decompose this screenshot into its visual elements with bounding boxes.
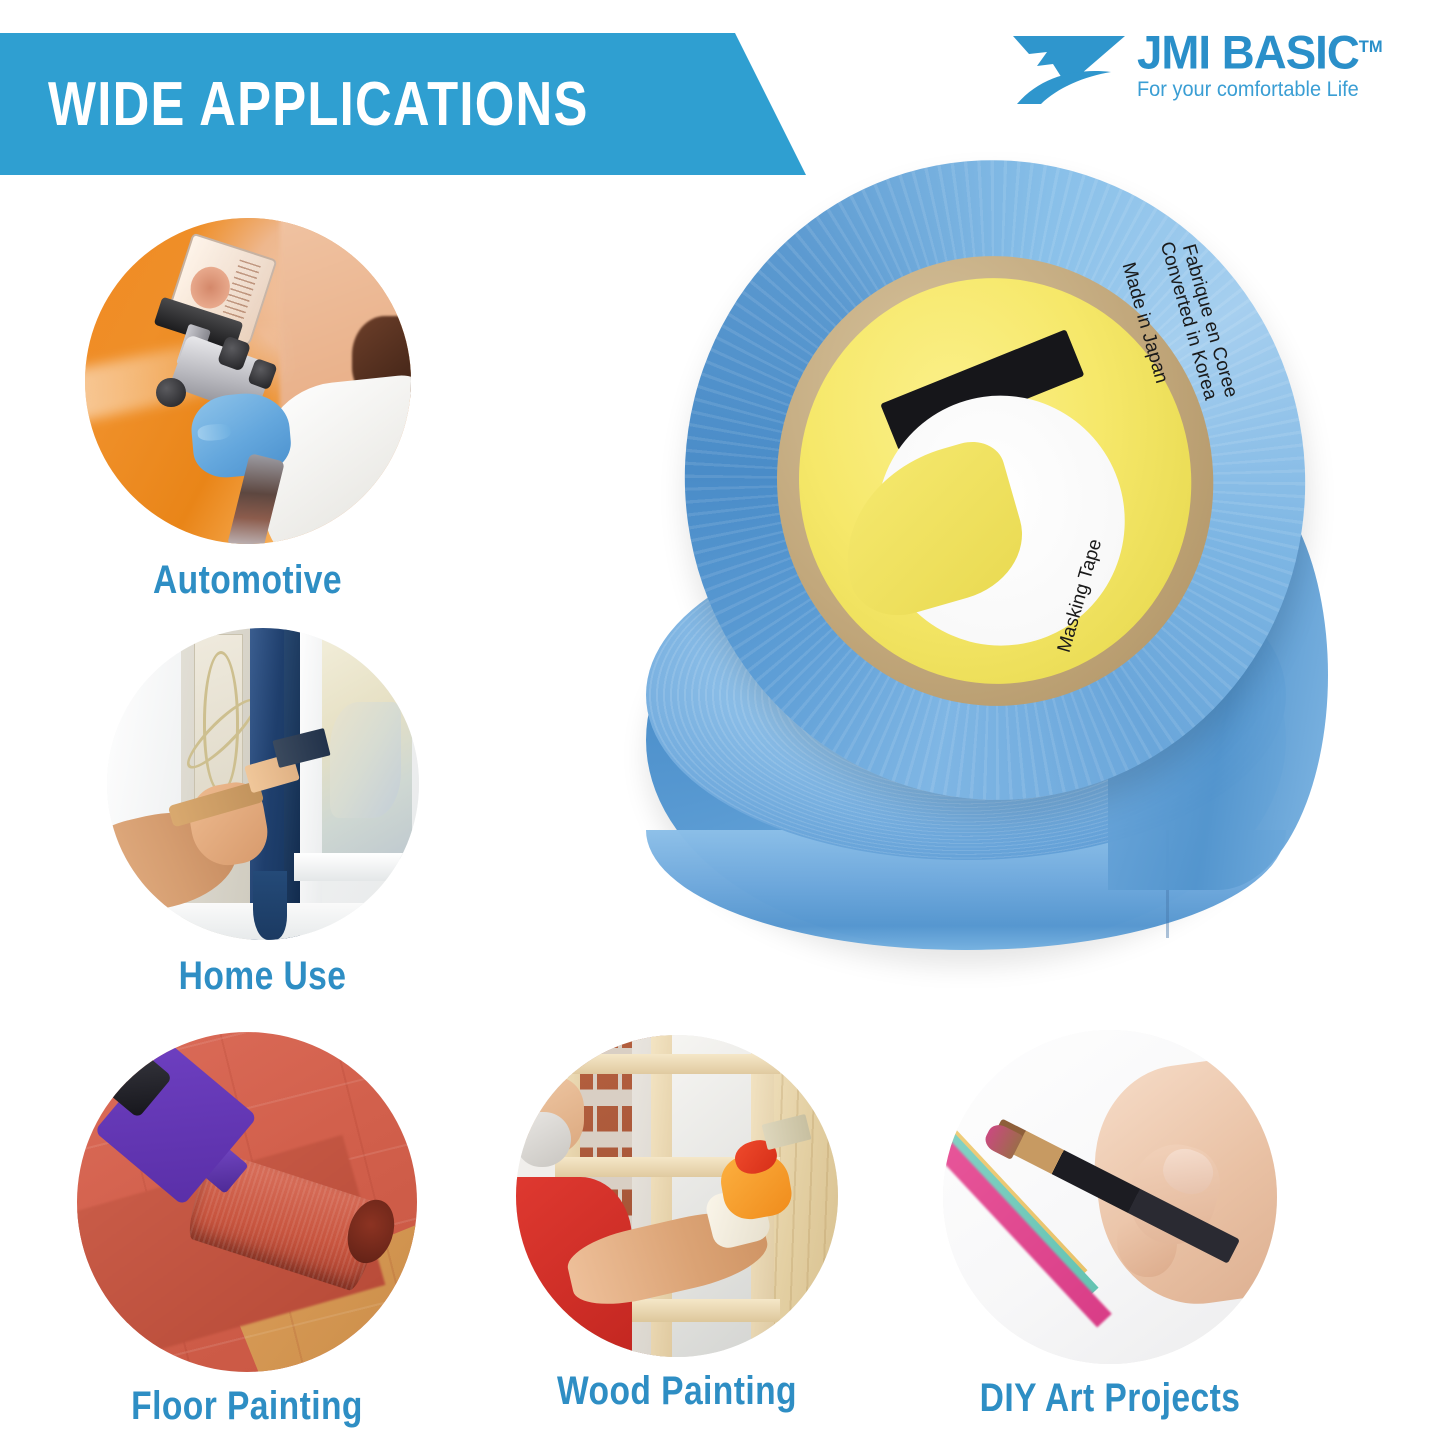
banner-title: WIDE APPLICATIONS [48,69,589,140]
brand-logo: JMI BASICTM For your comfortable Life [1007,22,1399,114]
photo-man-painting-wooden-window [516,1035,838,1357]
photo-hand-with-fine-brush [943,1030,1277,1364]
caption-diy-art-projects: DIY Art Projects [955,1376,1266,1421]
logo-text-block: JMI BASICTM For your comfortable Life [1137,22,1399,102]
trademark-symbol: TM [1359,37,1383,56]
photo-spray-gun-on-orange-car [85,218,411,544]
wide-applications-banner: WIDE APPLICATIONS [0,33,806,175]
brand-tagline: For your comfortable Life [1137,78,1386,102]
diy-art-photo [943,1030,1277,1364]
jmi-bird-mark-icon [1007,30,1135,108]
wood-painting-photo [516,1035,838,1357]
application-diy-art-projects: DIY Art Projects [925,1030,1295,1421]
automotive-photo [85,218,411,544]
application-home-use: Home Use [80,628,445,999]
application-floor-painting: Floor Painting [62,1032,432,1429]
photo-brush-painting-door-frame [107,628,419,940]
caption-home-use: Home Use [109,954,416,999]
brand-name: JMI BASICTM [1137,22,1391,78]
product-photo-masking-tape-rolls: Made in Japan Converted in Korea Fabriqu… [630,160,1330,970]
home-use-photo [107,628,419,940]
application-wood-painting: Wood Painting [492,1035,862,1414]
caption-automotive: Automotive [94,558,401,603]
caption-floor-painting: Floor Painting [92,1384,403,1429]
tape-roll-upright [643,120,1346,840]
application-automotive: Automotive [65,218,430,603]
photo-paint-roller-on-red-floor [77,1032,417,1372]
floor-painting-photo [77,1032,417,1372]
caption-wood-painting: Wood Painting [522,1369,833,1414]
